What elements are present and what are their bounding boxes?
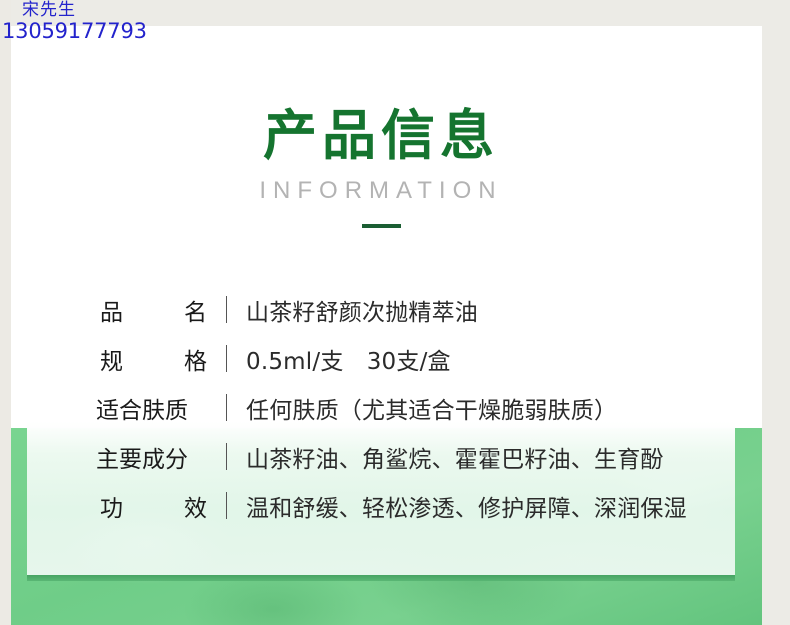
spec-label-specification: 规格	[96, 342, 210, 376]
watermark: 宋先生 13059177793	[0, 2, 200, 42]
spec-label-skin-type: 适合肤质	[96, 391, 210, 425]
spec-value-skin-type: 任何肤质（尤其适合干燥脆弱肤质）	[246, 391, 617, 425]
label-char: 名	[184, 293, 207, 327]
frame-strip-right	[762, 0, 790, 625]
card-header: 产品信息 INFORMATION	[27, 104, 735, 228]
spec-divider	[226, 394, 227, 421]
label-char: 品	[100, 293, 123, 327]
spec-divider	[226, 443, 227, 470]
label-char: 效	[184, 489, 207, 523]
spec-value-main-ingredients: 山茶籽油、角鲨烷、霍霍巴籽油、生育酚	[246, 440, 664, 474]
spec-divider	[226, 492, 227, 519]
spec-label-main-ingredients: 主要成分	[96, 440, 210, 474]
watermark-name: 宋先生	[0, 2, 200, 20]
spec-divider	[226, 345, 227, 372]
information-card: 产品信息 INFORMATION 品名 山茶籽舒颜次抛精萃油 规格 0.5ml/…	[27, 26, 735, 575]
spec-row-specification: 规格 0.5ml/支 30支/盒	[96, 335, 716, 382]
label-char: 规	[100, 342, 123, 376]
product-information-page: 产品信息 INFORMATION 品名 山茶籽舒颜次抛精萃油 规格 0.5ml/…	[0, 0, 790, 625]
spec-value-effects: 温和舒缓、轻松渗透、修护屏障、深润保湿	[246, 489, 687, 523]
frame-strip-left	[0, 0, 11, 625]
card-bottom-shadow	[27, 575, 735, 581]
spec-row-effects: 功效 温和舒缓、轻松渗透、修护屏障、深润保湿	[96, 482, 716, 529]
label-char: 格	[184, 342, 207, 376]
label-char: 功	[100, 489, 123, 523]
page-title: 产品信息	[27, 104, 735, 169]
spec-label-product-name: 品名	[96, 293, 210, 327]
spec-row-main-ingredients: 主要成分 山茶籽油、角鲨烷、霍霍巴籽油、生育酚	[96, 433, 716, 480]
spec-value-product-name: 山茶籽舒颜次抛精萃油	[246, 293, 478, 327]
spec-divider	[226, 296, 227, 323]
spec-row-skin-type: 适合肤质 任何肤质（尤其适合干燥脆弱肤质）	[96, 384, 716, 431]
title-divider-rule	[362, 224, 401, 228]
spec-value-specification: 0.5ml/支 30支/盒	[246, 342, 451, 376]
page-subtitle: INFORMATION	[27, 177, 735, 205]
spec-label-effects: 功效	[96, 489, 210, 523]
watermark-phone: 13059177793	[0, 20, 200, 42]
spec-row-product-name: 品名 山茶籽舒颜次抛精萃油	[96, 286, 716, 333]
specification-list: 品名 山茶籽舒颜次抛精萃油 规格 0.5ml/支 30支/盒 适合肤质 任何肤质…	[96, 286, 716, 531]
